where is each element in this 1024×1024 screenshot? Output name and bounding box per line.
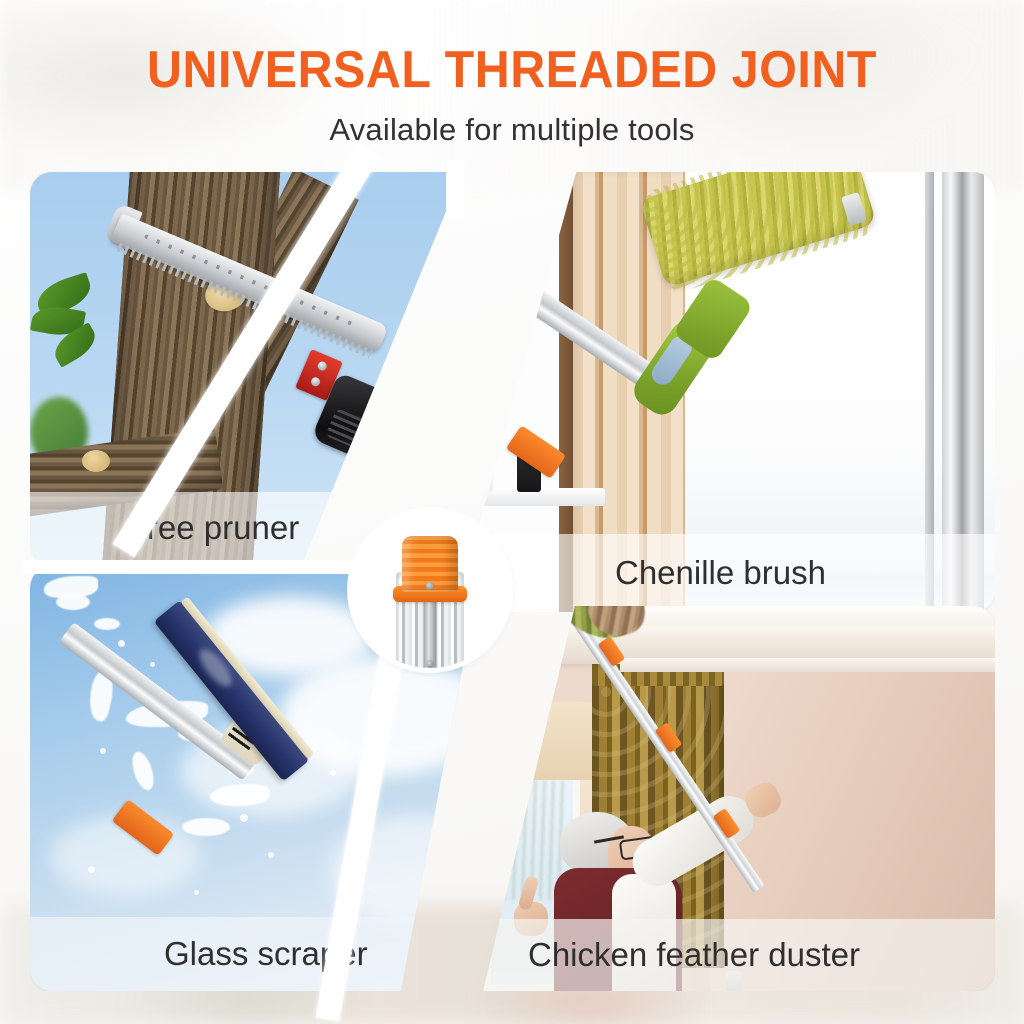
header: UNIVERSAL THREADED JOINT Available for m… [0,0,1024,148]
screw-icon [426,582,434,590]
caption-bar-chicken-feather-duster: Chicken feather duster [470,919,995,991]
panel-divider-vertical [446,160,464,220]
caption-bar-glass-scraper: Glass scraper [30,917,482,991]
page-subtitle: Available for multiple tools [0,96,1024,148]
caption-glass-scraper: Glass scraper [30,935,368,973]
infographic-canvas: UNIVERSAL THREADED JOINT Available for m… [0,0,1024,1024]
panel-chicken-feather-duster[interactable]: Chicken feather duster [470,606,995,991]
extension-pole [372,440,462,524]
caption-bar-chenille-brush: Chenille brush [455,534,995,612]
screw-icon [426,660,434,668]
caption-chicken-feather-duster: Chicken feather duster [470,936,860,974]
caption-chenille-brush: Chenille brush [455,554,826,592]
caption-tree-pruner: Tree pruner [30,509,299,547]
page-title: UNIVERSAL THREADED JOINT [36,0,988,96]
panel-chenille-brush[interactable]: Chenille brush [455,172,995,612]
threaded-joint-callout[interactable] [352,512,508,668]
